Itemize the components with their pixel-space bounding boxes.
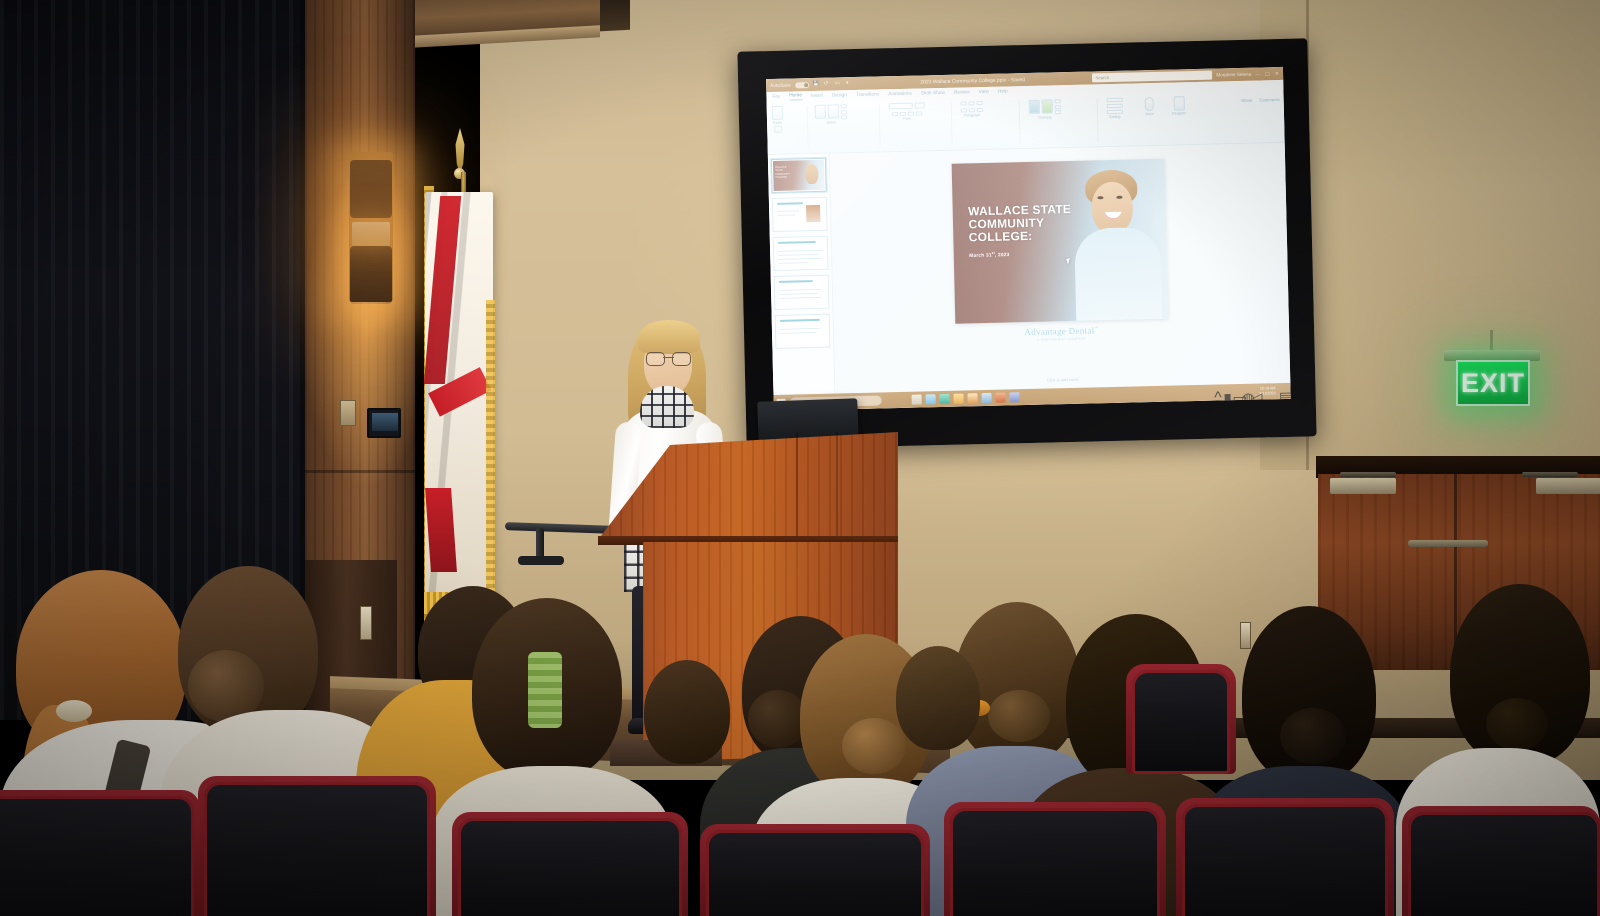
ribbon-group-editing[interactable]: Editing — [1107, 98, 1123, 119]
wall-display[interactable]: AutoSave 💾 ↺ ▭ ▾ 2023 Wallace Community … — [737, 38, 1316, 449]
onedrive-icon[interactable]: ◍ — [1241, 389, 1247, 395]
numbering-icon[interactable] — [969, 101, 975, 105]
network-icon[interactable]: ▮ — [1223, 389, 1229, 395]
exit-sign: EXIT — [1456, 360, 1530, 406]
seat-4[interactable] — [950, 808, 1160, 916]
battery-icon[interactable]: ▭ — [1232, 389, 1238, 395]
seat-1[interactable] — [204, 782, 430, 916]
slide-thumbnail-5[interactable]: 5 — [775, 314, 831, 349]
tab-file[interactable]: File — [772, 95, 780, 100]
show-hidden-icon[interactable]: ^ — [1214, 389, 1220, 395]
tab-home[interactable]: Home — [789, 93, 802, 100]
door-arm-left — [1340, 472, 1396, 477]
tab-help[interactable]: Help — [998, 89, 1008, 94]
ribbon-group-designer[interactable]: Designer — [1172, 96, 1187, 115]
audience-head-11 — [896, 646, 980, 750]
current-slide[interactable]: WALLACE STATE COMMUNITY COLLEGE: March 3… — [951, 159, 1168, 324]
seat-7[interactable] — [1132, 670, 1230, 774]
present-icon[interactable]: ▭ — [835, 80, 842, 87]
ribbon-group-slides[interactable]: Slides — [815, 104, 847, 125]
auditorium-presentation-scene: AutoSave 💾 ↺ ▭ ▾ 2023 Wallace Community … — [0, 0, 1600, 916]
restore-icon[interactable]: ▢ — [1265, 71, 1270, 77]
replace-icon[interactable] — [1107, 104, 1123, 108]
audience-bun-6 — [842, 718, 906, 774]
underline-icon[interactable] — [908, 112, 914, 116]
slide-thumbnail-2[interactable]: 2 — [772, 197, 828, 232]
comments-button[interactable]: Comments — [1259, 97, 1279, 102]
window-controls[interactable]: — ▢ ✕ — [1255, 71, 1279, 78]
audience-bun-5 — [748, 690, 808, 748]
ribbon-group-clipboard[interactable]: Paste — [772, 106, 784, 133]
bold-icon[interactable] — [892, 112, 898, 116]
seat-2[interactable] — [458, 818, 682, 916]
sconce-lamp-lower — [350, 246, 392, 304]
designer-group-label: Designer — [1172, 111, 1186, 115]
more-icon[interactable]: ▾ — [846, 80, 853, 87]
tab-review[interactable]: Review — [954, 90, 970, 95]
logo-trademark: ™ — [1094, 325, 1098, 330]
layout-icon[interactable] — [828, 104, 839, 118]
arrange-icon[interactable] — [1042, 99, 1053, 113]
task-view-icon[interactable] — [912, 395, 922, 405]
audience-hairtie-1 — [56, 700, 92, 722]
sconce-middle-band — [352, 222, 390, 246]
select-icon[interactable] — [1107, 110, 1123, 114]
slide-thumbnail-panel[interactable]: 1 WALLACESTATECOMMUNITYCOLLEGE: 2 — [768, 154, 836, 395]
door-arm-right — [1522, 472, 1578, 477]
teams-icon[interactable] — [1009, 392, 1019, 402]
reset-icon[interactable] — [841, 104, 847, 108]
font-size-input[interactable] — [915, 102, 925, 108]
seat-3[interactable] — [706, 830, 924, 916]
tab-transitions[interactable]: Transitions — [856, 92, 879, 98]
slide-portrait-photo — [1058, 165, 1166, 321]
mail-icon[interactable] — [926, 394, 936, 404]
slide-title-line3: COLLEGE: — [969, 229, 1033, 244]
slide-title-text: WALLACE STATE COMMUNITY COLLEGE: — [968, 203, 1072, 244]
editing-group-label: Editing — [1109, 115, 1120, 119]
seat-8[interactable] — [0, 796, 194, 916]
slide-thumbnail-1[interactable]: 1 WALLACESTATECOMMUNITYCOLLEGE: — [771, 158, 827, 193]
wall-plate — [340, 400, 356, 426]
column-seam — [305, 470, 415, 473]
tab-insert[interactable]: Insert — [811, 94, 823, 99]
design-ideas-icon[interactable] — [1173, 96, 1184, 110]
italic-icon[interactable] — [900, 112, 906, 116]
ribbon-group-paragraph[interactable]: Paragraph — [961, 101, 983, 118]
font-name-input[interactable] — [889, 103, 913, 110]
tab-slide-show[interactable]: Slide Show — [921, 91, 945, 97]
volume-icon[interactable]: ◁ — [1250, 389, 1256, 395]
explorer-icon[interactable] — [954, 394, 964, 404]
powerpoint-icon[interactable] — [995, 393, 1005, 403]
seat-5[interactable] — [1182, 804, 1388, 916]
thumbnail-title-1: WALLACESTATECOMMUNITYCOLLEGE: — [775, 166, 790, 180]
shape-fill-icon[interactable] — [1055, 105, 1061, 109]
ribbon-right-actions[interactable]: Share Comments — [1241, 97, 1280, 103]
search-input[interactable]: Search — [1092, 71, 1212, 83]
exit-sign-label: EXIT — [1461, 368, 1525, 399]
columns-icon[interactable] — [977, 108, 983, 112]
ribbon-group-voice[interactable]: Voice — [1145, 97, 1154, 116]
user-name[interactable]: Morphine Selena — [1216, 72, 1251, 78]
tab-view[interactable]: View — [979, 90, 989, 95]
paste-icon[interactable] — [772, 106, 783, 120]
align-left-icon[interactable] — [961, 108, 967, 112]
drawing-group-label: Drawing — [1038, 115, 1051, 119]
dictate-icon[interactable] — [1145, 97, 1154, 111]
save-icon[interactable]: 💾 — [813, 81, 820, 88]
audience-bun-9 — [1280, 708, 1346, 764]
paragraph-group-label: Paragraph — [964, 113, 981, 117]
find-icon[interactable] — [1107, 98, 1123, 102]
slides-more-icon[interactable] — [841, 115, 847, 119]
ribbon-group-drawing[interactable]: Drawing — [1029, 99, 1061, 120]
tab-design[interactable]: Design — [832, 93, 847, 98]
powerpoint-window[interactable]: AutoSave 💾 ↺ ▭ ▾ 2023 Wallace Community … — [766, 67, 1291, 411]
indent-icon[interactable] — [977, 101, 983, 105]
section-icon[interactable] — [841, 110, 847, 114]
presenter-glasses-icon — [646, 352, 691, 364]
door-closer-left — [1330, 478, 1396, 494]
audience-hairclip-4-icon — [528, 652, 562, 728]
action-center-icon[interactable]: ▤ — [1278, 388, 1284, 394]
audience-head-12 — [644, 660, 730, 764]
powerpoint-body: 1 WALLACESTATECOMMUNITYCOLLEGE: 2 — [768, 143, 1291, 395]
chrome-icon[interactable] — [982, 393, 992, 403]
shape-outline-icon[interactable] — [1055, 110, 1061, 114]
presenter-plaid-scarf — [640, 386, 694, 428]
system-tray[interactable]: ^ ▮ ▭ ◍ ◁ 10:18 AM 3/31/2023 ▤ — [1214, 386, 1288, 397]
bullets-icon[interactable] — [961, 101, 967, 105]
slide-date-year: , 2023 — [995, 253, 1010, 258]
sconce-lamp-upper — [350, 160, 392, 218]
autosave-toggle[interactable] — [795, 82, 809, 88]
audience-bun-10 — [1486, 698, 1548, 750]
door-closer-right — [1536, 478, 1600, 494]
audience — [0, 540, 1600, 916]
format-painter-icon[interactable] — [774, 126, 782, 133]
lectern-top — [598, 432, 898, 540]
align-center-icon[interactable] — [969, 108, 975, 112]
minimize-icon[interactable]: — — [1255, 71, 1260, 77]
notes-placeholder[interactable]: Click to add notes — [1047, 377, 1079, 383]
logo-text: Advantage Dental — [1024, 325, 1094, 337]
undo-icon[interactable]: ↺ — [824, 81, 831, 88]
slide-thumbnail-3[interactable]: 3 — [773, 236, 829, 271]
thumbnail-image-2 — [806, 205, 820, 222]
ribbon-group-font[interactable]: Font — [889, 102, 925, 121]
new-slide-icon[interactable] — [815, 105, 826, 119]
thumbnail-portrait-1 — [805, 164, 818, 184]
presenter-hair-top — [638, 320, 700, 354]
wall-control-monitor[interactable] — [367, 408, 401, 438]
slides-group-label: Slides — [826, 120, 836, 124]
seat-6[interactable] — [1408, 812, 1600, 916]
logo-subtitle: A DENTAQUEST COMPANY — [1037, 337, 1086, 342]
slide-thumbnail-4[interactable]: 4 — [774, 275, 830, 310]
edge-icon[interactable] — [940, 394, 950, 404]
share-button[interactable]: Share — [1241, 98, 1252, 103]
font-group-label: Font — [903, 117, 910, 121]
slide-date-prefix: March 31 — [969, 253, 992, 259]
autosave-label: AutoSave — [770, 83, 791, 88]
font-color-icon[interactable] — [916, 111, 922, 115]
taskbar-pinned-icons[interactable] — [912, 392, 1020, 405]
slide-date-text: March 31st, 2023 — [969, 250, 1009, 259]
slide-editing-area[interactable]: WALLACE STATE COMMUNITY COLLEGE: March 3… — [830, 143, 1291, 394]
close-icon[interactable]: ✕ — [1275, 71, 1279, 77]
advantage-dental-logo: Advantage Dental™ — [1024, 325, 1098, 337]
quick-styles-icon[interactable] — [1055, 99, 1061, 103]
voice-group-label: Voice — [1145, 112, 1154, 116]
store-icon[interactable] — [968, 393, 978, 403]
shapes-icon[interactable] — [1029, 100, 1040, 114]
display-screen[interactable]: AutoSave 💾 ↺ ▭ ▾ 2023 Wallace Community … — [766, 67, 1291, 411]
paste-label: Paste — [773, 121, 782, 125]
tab-animations[interactable]: Animations — [888, 92, 912, 98]
audience-bun-7 — [988, 690, 1050, 742]
